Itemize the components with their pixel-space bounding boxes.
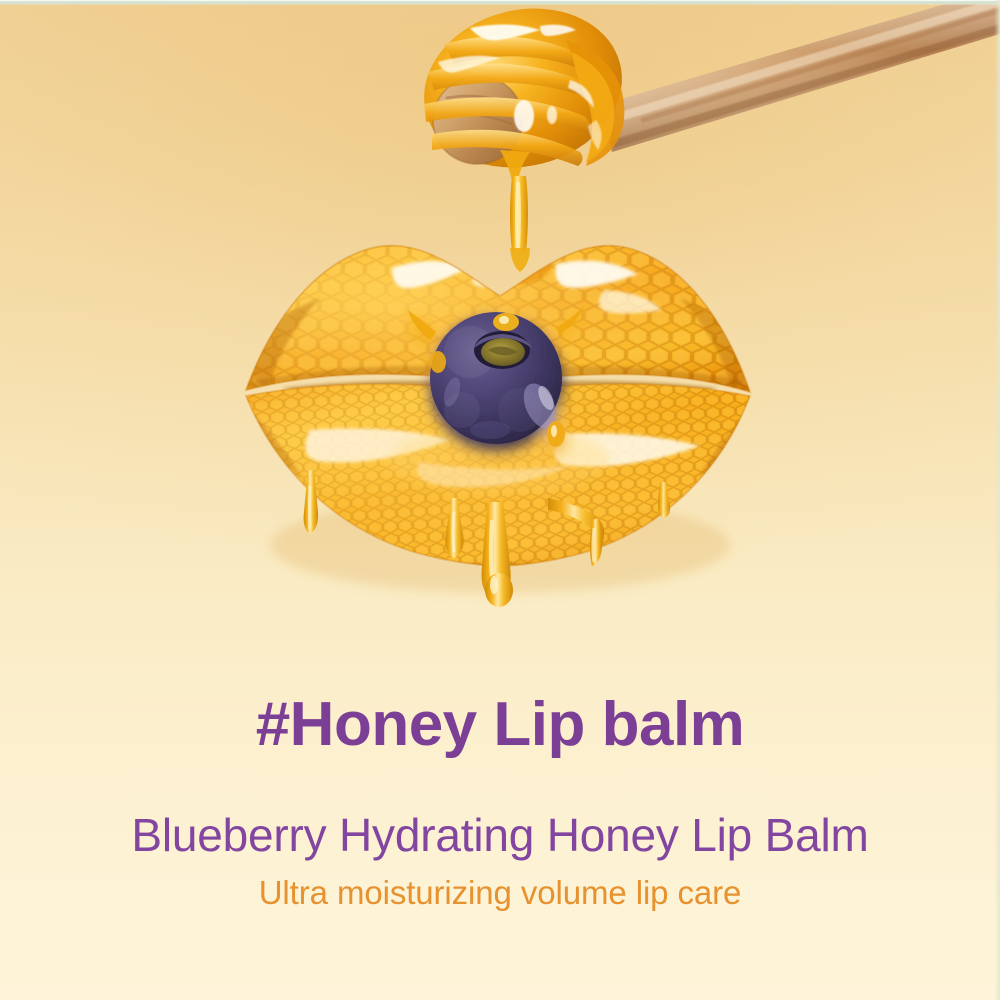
dipper-head xyxy=(407,0,639,188)
top-edge-strip xyxy=(0,0,1000,5)
honey-drips xyxy=(304,470,671,607)
upper-lip xyxy=(230,230,770,410)
dipper-handle xyxy=(600,0,1000,152)
text-block: #Honey Lip balm Blueberry Hydrating Hone… xyxy=(0,672,1000,909)
mouth-opening xyxy=(282,381,718,411)
honey-stream xyxy=(500,150,530,272)
product-tagline: Ultra moisturizing volume lip care xyxy=(0,858,1000,909)
lower-lip xyxy=(222,370,778,580)
product-name: Blueberry Hydrating Honey Lip Balm xyxy=(0,756,1000,858)
blueberry xyxy=(408,306,584,451)
page-title: #Honey Lip balm xyxy=(0,672,1000,756)
right-edge-strip xyxy=(994,0,1000,1000)
product-banner: #Honey Lip balm Blueberry Hydrating Hone… xyxy=(0,0,1000,1000)
upper-lip-outline xyxy=(246,246,750,392)
lower-lip-outline xyxy=(246,384,750,566)
